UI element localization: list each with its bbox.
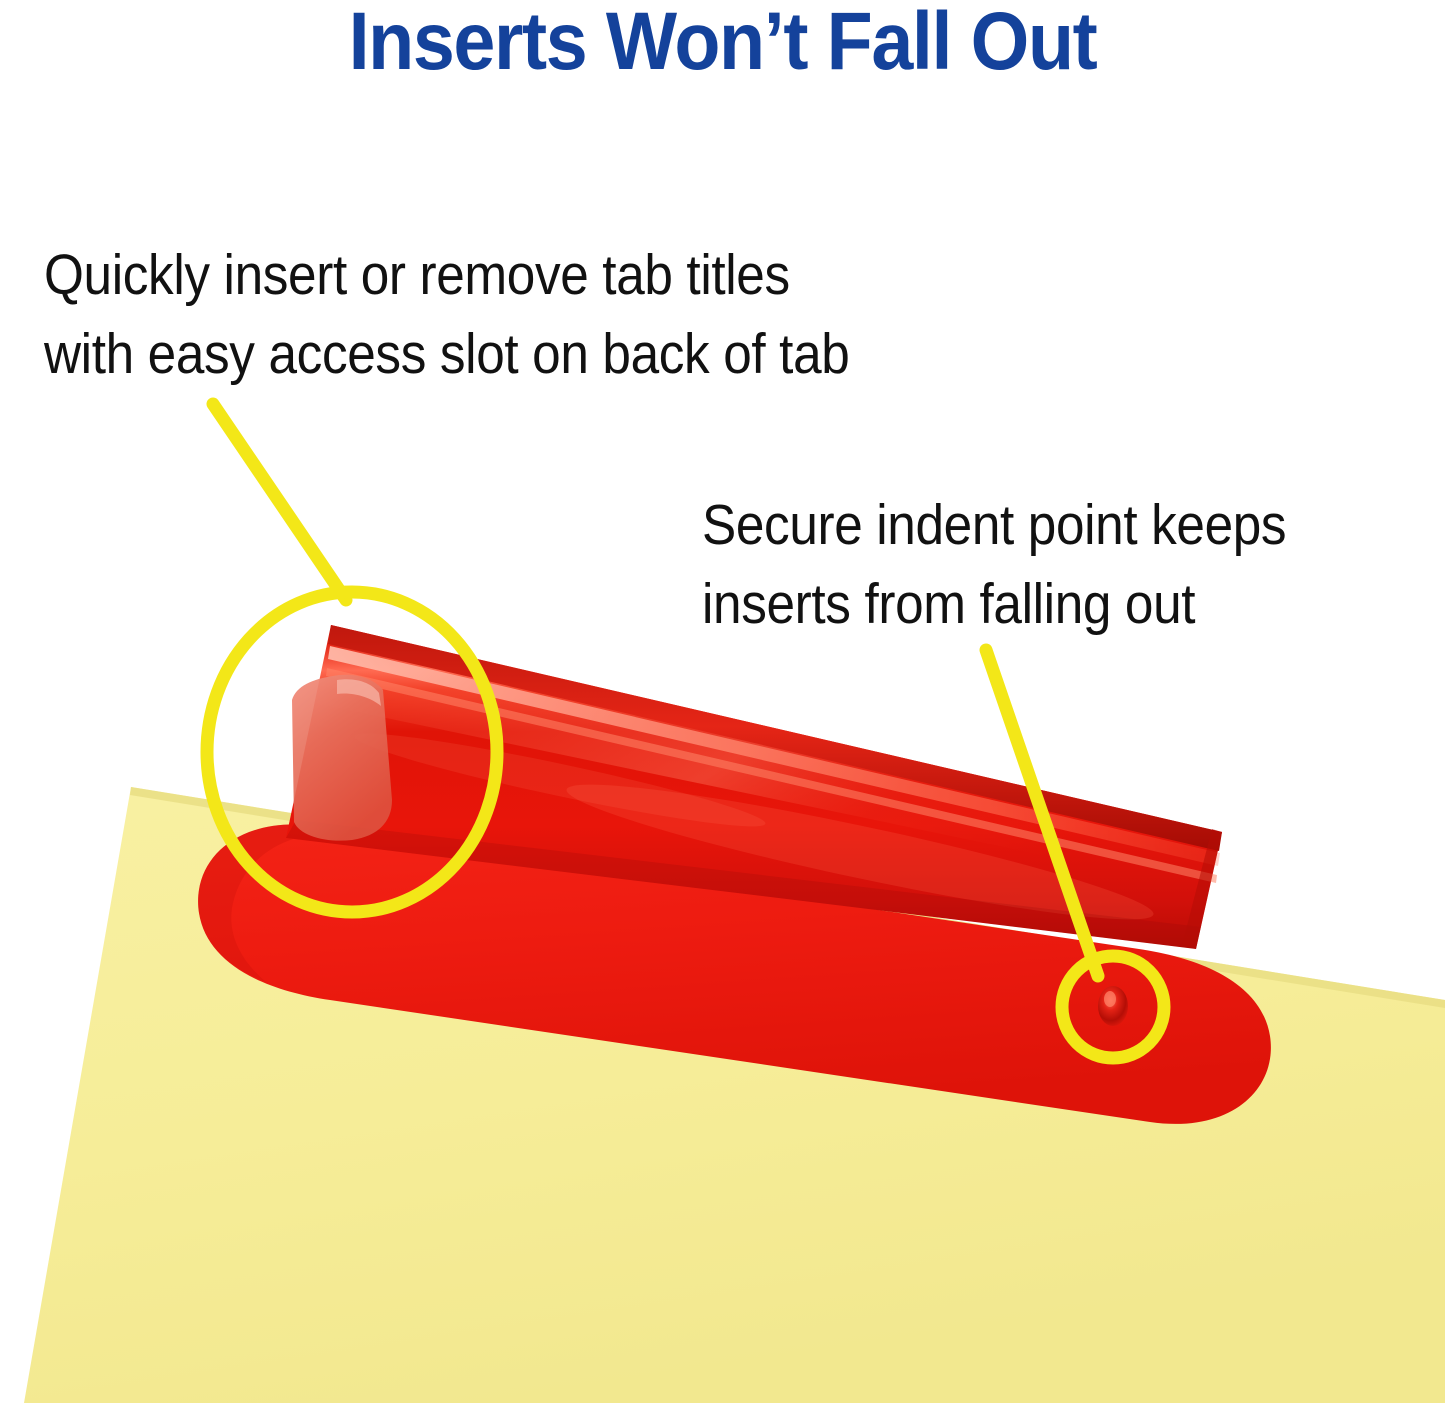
indent-point bbox=[1098, 986, 1128, 1026]
callout-right-line-1: Secure indent point keeps bbox=[702, 486, 1286, 565]
callout-left-line-1: Quickly insert or remove tab titles bbox=[44, 236, 849, 315]
callout-left-line-2: with easy access slot on back of tab bbox=[44, 315, 849, 394]
yellow-leader-left bbox=[213, 404, 346, 600]
callout-left-text: Quickly insert or remove tab titles with… bbox=[44, 236, 849, 394]
product-infographic: Inserts Won’t Fall Out Quickly insert or… bbox=[0, 0, 1445, 1403]
product-illustration bbox=[0, 0, 1445, 1403]
page-title: Inserts Won’t Fall Out bbox=[58, 0, 1387, 90]
callout-right-line-2: inserts from falling out bbox=[702, 565, 1286, 644]
callout-right-text: Secure indent point keeps inserts from f… bbox=[702, 486, 1286, 644]
access-slot-flap bbox=[292, 675, 392, 841]
